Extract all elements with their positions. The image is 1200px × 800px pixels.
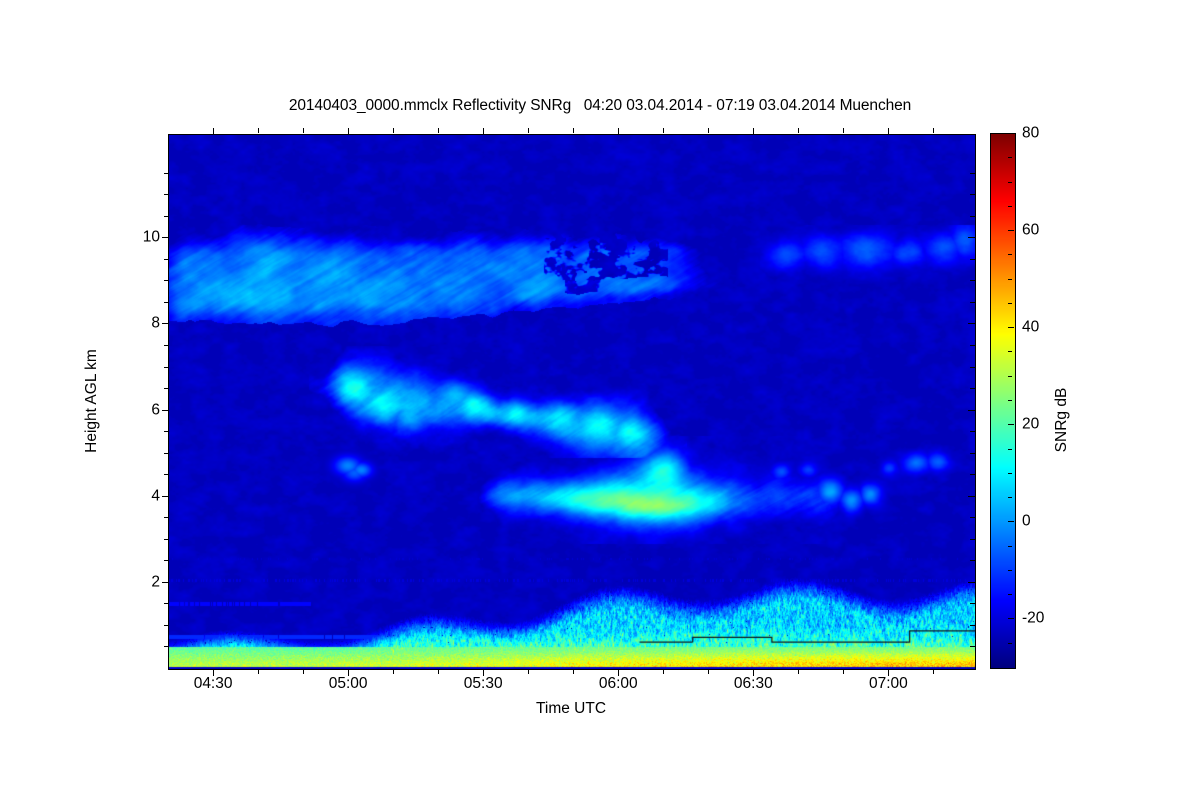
y-minor-tick <box>164 474 169 475</box>
x-tick-mark-top <box>213 128 214 135</box>
y-minor-tick <box>164 173 169 174</box>
x-minor-tick-top <box>438 128 439 133</box>
colorbar-tick-mark <box>1008 133 1014 134</box>
x-minor-tick-top <box>708 128 709 133</box>
colorbar-tick-mark <box>1008 230 1014 231</box>
y-minor-tick-right <box>970 259 975 260</box>
x-tick-mark-top <box>888 128 889 135</box>
y-minor-tick-right <box>970 603 975 604</box>
y-minor-tick <box>164 539 169 540</box>
colorbar-tick-label: 20 <box>1022 417 1039 433</box>
y-minor-tick <box>164 194 169 195</box>
x-minor-tick <box>393 669 394 674</box>
colorbar-minor-tick <box>1008 449 1012 450</box>
colorbar-tick-label: -20 <box>1022 611 1044 627</box>
colorbar-minor-tick <box>1008 570 1012 571</box>
colorbar-minor-tick <box>1008 254 1012 255</box>
colorbar-tick-mark <box>1008 424 1014 425</box>
x-minor-tick <box>303 669 304 674</box>
x-tick-mark-top <box>753 128 754 135</box>
y-minor-tick-right <box>970 517 975 518</box>
y-minor-tick-right <box>970 345 975 346</box>
y-tick-mark-right <box>968 496 975 497</box>
colorbar-minor-tick <box>1008 182 1012 183</box>
y-tick-mark-right <box>968 323 975 324</box>
x-tick-mark-top <box>483 128 484 135</box>
y-minor-tick <box>164 259 169 260</box>
x-minor-tick <box>573 669 574 674</box>
y-minor-tick-right <box>970 302 975 303</box>
x-tick-label: 06:00 <box>599 676 638 692</box>
y-tick-label: 4 <box>151 488 160 504</box>
x-minor-tick-top <box>933 128 934 133</box>
colorbar-minor-tick <box>1008 400 1012 401</box>
x-minor-tick <box>258 669 259 674</box>
y-minor-tick-right <box>970 560 975 561</box>
y-minor-tick <box>164 646 169 647</box>
colorbar-minor-tick <box>1008 303 1012 304</box>
y-minor-tick <box>164 367 169 368</box>
y-minor-tick-right <box>970 625 975 626</box>
y-minor-tick <box>164 560 169 561</box>
x-minor-tick <box>528 669 529 674</box>
y-minor-tick <box>164 345 169 346</box>
x-minor-tick-top <box>843 128 844 133</box>
x-minor-tick-top <box>393 128 394 133</box>
y-tick-mark-right <box>968 237 975 238</box>
x-minor-tick-top <box>528 128 529 133</box>
y-minor-tick-right <box>970 453 975 454</box>
x-minor-tick-top <box>258 128 259 133</box>
y-minor-tick <box>164 453 169 454</box>
y-minor-tick-right <box>970 431 975 432</box>
x-tick-label: 06:30 <box>734 676 773 692</box>
colorbar-tick-mark <box>1008 618 1014 619</box>
plot-title: 20140403_0000.mmclx Reflectivity SNRg 04… <box>0 97 1200 115</box>
colorbar-minor-tick <box>1008 546 1012 547</box>
y-minor-tick <box>164 603 169 604</box>
y-minor-tick-right <box>970 280 975 281</box>
x-minor-tick <box>843 669 844 674</box>
y-tick-label: 6 <box>151 402 160 418</box>
colorbar-minor-tick <box>1008 157 1012 158</box>
y-tick-label: 8 <box>151 316 160 332</box>
x-minor-tick <box>933 669 934 674</box>
y-minor-tick-right <box>970 474 975 475</box>
x-tick-label: 05:00 <box>329 676 368 692</box>
y-minor-tick-right <box>970 367 975 368</box>
y-tick-label: 2 <box>151 574 160 590</box>
x-minor-tick-top <box>303 128 304 133</box>
colorbar-tick-label: 80 <box>1022 125 1039 141</box>
colorbar-tick-label: 0 <box>1022 514 1031 530</box>
y-minor-tick <box>164 517 169 518</box>
plot-area[interactable] <box>168 134 976 670</box>
x-axis-label: Time UTC <box>536 700 606 718</box>
colorbar-label: SNRg dB <box>1053 388 1071 453</box>
colorbar-minor-tick <box>1008 497 1012 498</box>
y-minor-tick <box>164 216 169 217</box>
colorbar-minor-tick <box>1008 206 1012 207</box>
y-axis-label: Height AGL km <box>83 349 101 453</box>
x-minor-tick <box>438 669 439 674</box>
y-tick-mark <box>162 582 169 583</box>
y-minor-tick <box>164 431 169 432</box>
colorbar-minor-tick <box>1008 643 1012 644</box>
y-minor-tick <box>164 625 169 626</box>
y-minor-tick <box>164 280 169 281</box>
y-minor-tick-right <box>970 539 975 540</box>
colorbar-minor-tick <box>1008 376 1012 377</box>
x-tick-label: 07:00 <box>869 676 908 692</box>
colorbar-minor-tick <box>1008 351 1012 352</box>
x-minor-tick <box>798 669 799 674</box>
reflectivity-heatmap <box>169 135 975 669</box>
colorbar-minor-tick <box>1008 279 1012 280</box>
x-minor-tick <box>708 669 709 674</box>
colorbar-gradient <box>991 134 1015 668</box>
y-tick-mark <box>162 496 169 497</box>
y-minor-tick-right <box>970 646 975 647</box>
y-tick-mark <box>162 410 169 411</box>
y-minor-tick-right <box>970 388 975 389</box>
x-minor-tick-top <box>798 128 799 133</box>
x-minor-tick-top <box>573 128 574 133</box>
y-minor-tick-right <box>970 216 975 217</box>
colorbar-tick-mark <box>1008 327 1014 328</box>
figure-canvas: 20140403_0000.mmclx Reflectivity SNRg 04… <box>0 0 1200 800</box>
colorbar-tick-label: 60 <box>1022 222 1039 238</box>
colorbar-tick-label: 40 <box>1022 319 1039 335</box>
x-tick-mark-top <box>618 128 619 135</box>
colorbar-minor-tick <box>1008 473 1012 474</box>
x-tick-label: 04:30 <box>194 676 233 692</box>
y-tick-mark <box>162 237 169 238</box>
y-minor-tick <box>164 388 169 389</box>
x-tick-mark-top <box>348 128 349 135</box>
y-minor-tick-right <box>970 194 975 195</box>
colorbar-minor-tick <box>1008 594 1012 595</box>
y-tick-mark-right <box>968 582 975 583</box>
y-tick-label: 10 <box>143 230 160 246</box>
x-minor-tick <box>663 669 664 674</box>
y-tick-mark-right <box>968 410 975 411</box>
x-tick-label: 05:30 <box>464 676 503 692</box>
colorbar[interactable] <box>990 133 1016 669</box>
colorbar-tick-mark <box>1008 521 1014 522</box>
y-minor-tick-right <box>970 173 975 174</box>
x-minor-tick-top <box>663 128 664 133</box>
y-minor-tick <box>164 302 169 303</box>
y-tick-mark <box>162 323 169 324</box>
